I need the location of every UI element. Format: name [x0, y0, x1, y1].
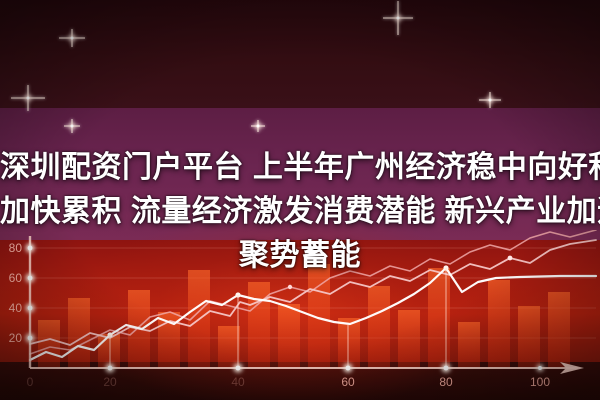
x-tick-label: 60 [341, 375, 355, 389]
headline-line-1: 深圳配资门户平台 上半年广州经济稳中向好积极因 [0, 146, 600, 190]
headline-line-3: 聚势蓄能 [0, 234, 600, 278]
headline: 深圳配资门户平台 上半年广州经济稳中向好积极因 加快累积 流量经济激发消费潜能 … [0, 146, 600, 278]
y-tick-label: 20 [9, 331, 23, 345]
x-tick-label: 80 [439, 375, 453, 389]
x-tick-label: 100 [530, 375, 550, 389]
banner-image: 80 60 40 20 0 20 40 60 80 100 深圳配资门户平台 上… [0, 0, 600, 400]
headline-line-2: 加快累积 流量经济激发消费潜能 新兴产业加速聚势蓄 [0, 190, 600, 234]
x-tick-label: 20 [103, 375, 117, 389]
x-tick-label: 40 [231, 375, 245, 389]
x-tick-label: 0 [27, 375, 34, 389]
y-tick-label: 40 [9, 301, 23, 315]
background-band-top [0, 0, 600, 108]
